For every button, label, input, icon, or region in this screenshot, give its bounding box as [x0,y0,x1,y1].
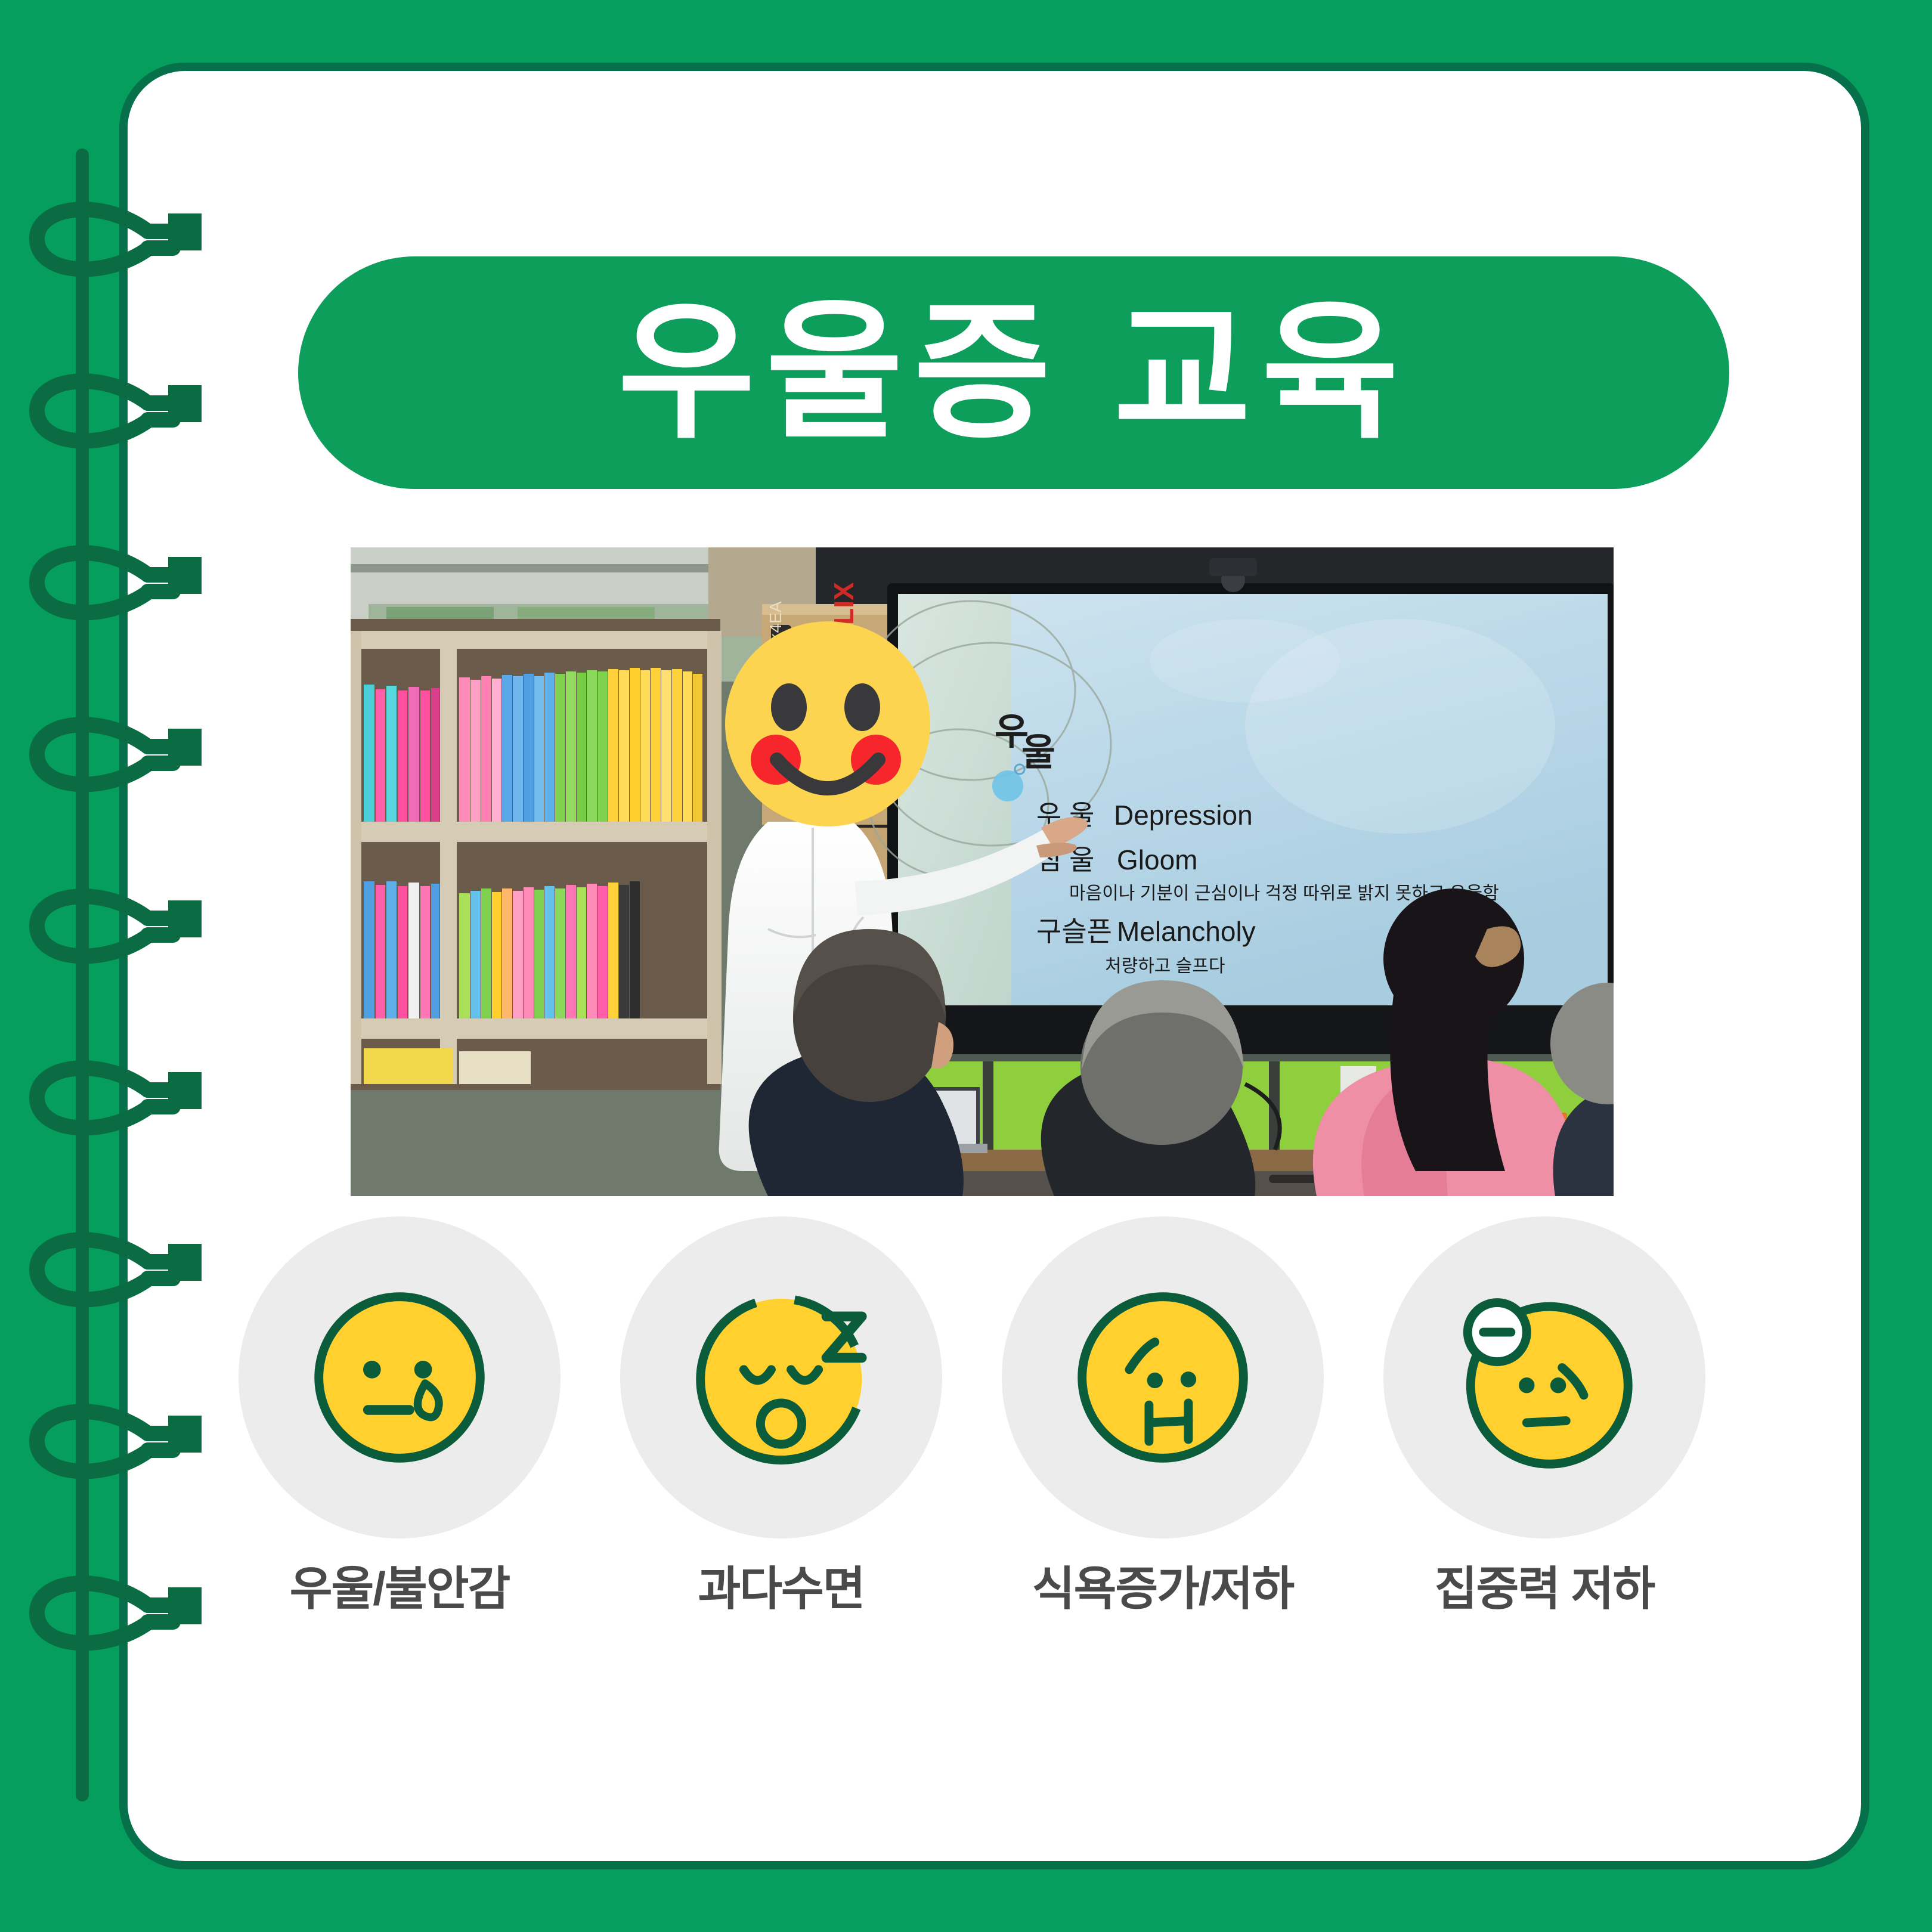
title-banner: 우울증 교육 [298,256,1729,489]
svg-text:Melancholy: Melancholy [1117,916,1256,947]
sad-tear-face-icon [301,1279,498,1476]
symptom-icon-disc [239,1216,561,1538]
low-focus-face-icon [1446,1279,1643,1476]
symptom-item[interactable]: 식욕증가/저하 [1002,1216,1324,1618]
page-title: 우울증 교육 [618,298,1409,447]
sleeping-face-icon [683,1279,880,1476]
symptom-icon-disc [620,1216,942,1538]
symptom-icon-disc [1002,1216,1324,1538]
lecture-photo: 400g×4EA NETFLIX 맛밤 400g×4EA 맛밤 [351,547,1614,1196]
symptom-item[interactable]: 우울/불안감 [239,1216,561,1618]
appetite-face-icon [1064,1279,1261,1476]
symptom-label: 식욕증가/저하 [1032,1552,1293,1618]
svg-text:구슬픈: 구슬픈 [1036,916,1112,947]
symptom-item[interactable]: 집중력 저하 [1383,1216,1705,1618]
svg-text:울: 울 [1021,732,1055,773]
smiley-privacy-overlay [725,621,930,826]
symptom-item[interactable]: 과다수면 [620,1216,942,1618]
svg-text:처량하고 슬프다: 처량하고 슬프다 [1105,956,1225,976]
svg-text:Depression: Depression [1114,800,1253,831]
symptom-label: 과다수면 [698,1552,864,1618]
symptom-label: 우울/불안감 [290,1552,509,1618]
symptom-icon-disc [1383,1216,1705,1538]
symptom-label: 집중력 저하 [1435,1552,1654,1618]
svg-text:Gloom: Gloom [1117,844,1197,875]
symptom-list: 우울/불안감 과다수면 [239,1216,1705,1682]
